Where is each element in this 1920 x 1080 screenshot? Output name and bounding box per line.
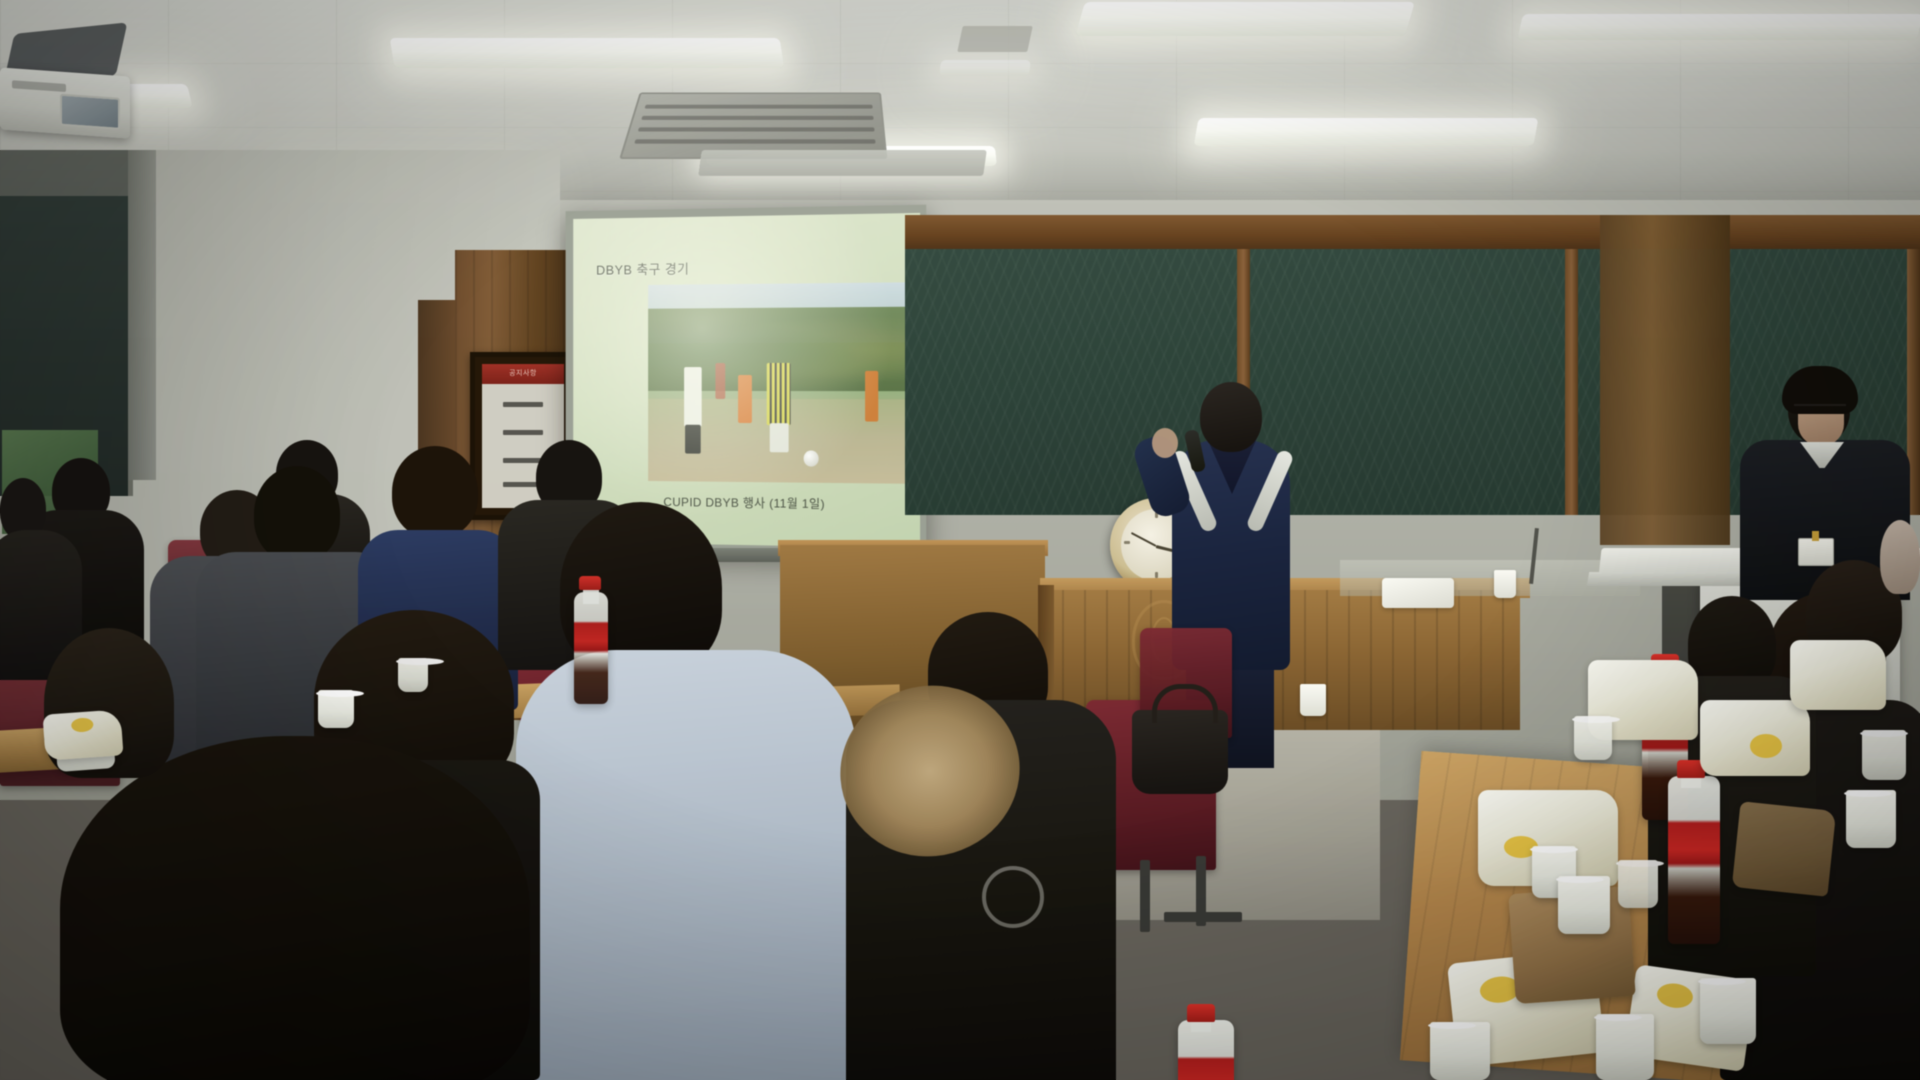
- paper-cup: [1846, 790, 1896, 848]
- paper-cup: [1862, 730, 1906, 780]
- right-wall-wood-panel: [1600, 215, 1730, 545]
- paper-cup: [1618, 860, 1658, 908]
- projection-screen: DBYB 축구 경기 CUPID DBYB 행사 (11월 1일): [573, 213, 920, 548]
- clock-minute-hand: [1131, 532, 1157, 547]
- seminar-room-photo: 공지사항 DBYB 축구 경기 CUPID DBYB 행사 (11월: [0, 0, 1920, 1080]
- ceiling-vent-small: [957, 26, 1033, 52]
- projector-lens-icon: [60, 94, 120, 130]
- food-wrapper: [42, 709, 123, 760]
- projection-screen-frame: DBYB 축구 경기 CUPID DBYB 행사 (11월 1일): [566, 205, 927, 557]
- paper-cup: [1558, 876, 1610, 934]
- chalkboard-top-trim: [905, 215, 1920, 249]
- ceiling-light-1: [1075, 2, 1415, 36]
- slide-title: DBYB 축구 경기: [596, 259, 689, 279]
- slide-photo-player-orange: [738, 375, 751, 423]
- slide-photo-player-white: [684, 367, 702, 426]
- paper-cup: [1574, 716, 1612, 760]
- paper-cup: [1494, 570, 1516, 598]
- chair-leg: [1140, 860, 1150, 932]
- cola-bottle: [1668, 776, 1720, 944]
- name-badge: [1798, 538, 1834, 566]
- food-wrapper: [1790, 640, 1886, 710]
- paper-cup: [1596, 1014, 1654, 1080]
- paper-cup: [1700, 978, 1756, 1044]
- left-doorway: [0, 196, 133, 496]
- food-wrapper: [1700, 700, 1810, 776]
- slide-photo-player-red: [715, 363, 725, 399]
- tissue-box: [1382, 578, 1454, 608]
- slide-photo: [648, 282, 911, 484]
- bottle-cap: [579, 576, 601, 590]
- slide-photo-player-striped: [767, 363, 791, 425]
- ceiling-vent-panel: [698, 150, 987, 176]
- paper-cup: [1300, 684, 1326, 716]
- notice-text-line: [503, 430, 542, 435]
- glasses-icon: [1794, 404, 1846, 416]
- chalkboard-divider: [1565, 249, 1578, 515]
- wall-column: [128, 150, 156, 480]
- parka-logo-patch: [982, 866, 1044, 928]
- slide-photo-player-orange2: [865, 371, 878, 421]
- paper-bag: [1732, 801, 1836, 897]
- presenter-head: [1200, 382, 1262, 452]
- paper-cup: [1430, 1022, 1490, 1080]
- projector-label-strip: [12, 80, 66, 92]
- paper-cup: [318, 690, 354, 728]
- ceiling-projector: [0, 67, 130, 138]
- ceiling-light-2: [1194, 118, 1539, 146]
- bottle-cap: [1187, 1004, 1215, 1022]
- notice-header-band: 공지사항: [482, 364, 564, 384]
- notice-text-line: [503, 458, 542, 463]
- notice-header-text: 공지사항: [482, 364, 564, 384]
- ceiling-light-3: [390, 38, 785, 68]
- notice-text-line: [503, 402, 542, 407]
- paper-cup: [398, 658, 428, 692]
- cola-bottle: [1178, 1020, 1234, 1080]
- ceiling-light-8: [939, 60, 1031, 76]
- chair-leg: [1164, 912, 1242, 922]
- ceiling-light-6: [1517, 14, 1920, 40]
- handbag-strap: [1152, 684, 1218, 723]
- slide-photo-soccer-ball-icon: [804, 451, 819, 467]
- presenter-hand: [1152, 428, 1178, 458]
- handbag: [1132, 710, 1228, 794]
- cola-bottle: [574, 592, 608, 704]
